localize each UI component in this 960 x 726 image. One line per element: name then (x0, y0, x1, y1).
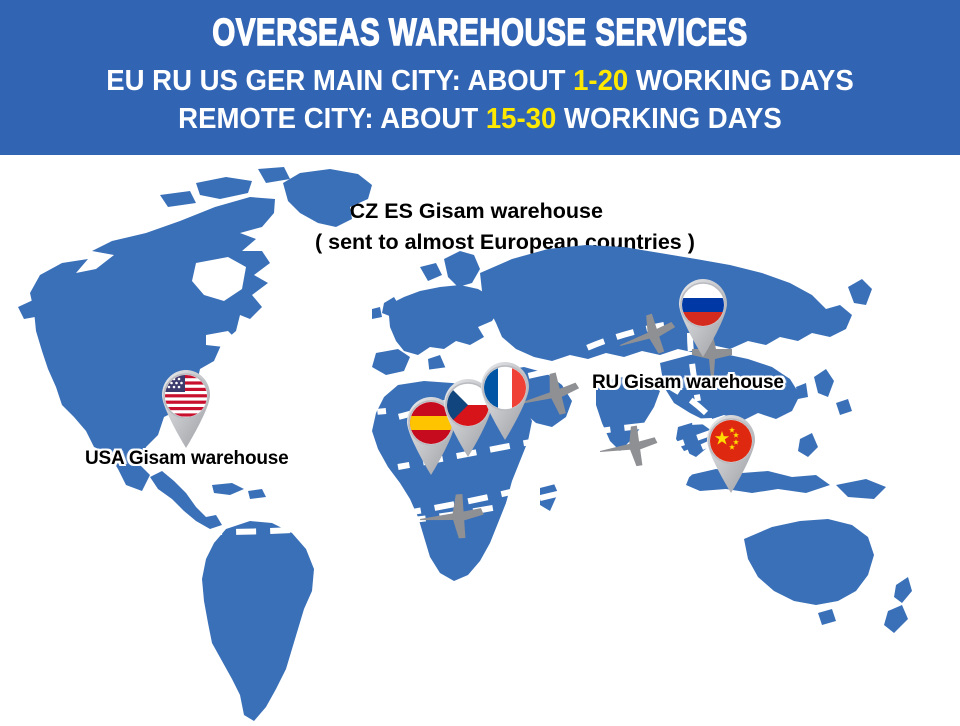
usa-pin[interactable] (155, 368, 217, 450)
france-flag (484, 367, 526, 409)
japan (814, 369, 852, 415)
remote-city-days: 15-30 (486, 103, 556, 135)
russia-flag (682, 284, 724, 326)
delivery-time-remote-city: REMOTE CITY: ABOUT 15-30 WORKING DAYS (24, 101, 936, 138)
world-map: USA Gisam warehouse RU Gisam warehouse (0, 155, 960, 726)
new-guinea (836, 479, 886, 499)
scandinavia (420, 251, 480, 287)
header-banner: OVERSEAS WAREHOUSE SERVICES EU RU US GER… (0, 0, 960, 155)
france-pin[interactable] (474, 360, 536, 442)
main-city-days: 1-20 (573, 65, 628, 97)
main-city-prefix: EU RU US GER MAIN CITY: ABOUT (106, 65, 573, 97)
tasmania (818, 609, 836, 625)
page-title: OVERSEAS WAREHOUSE SERVICES (106, 14, 855, 52)
russia-warehouse-label: RU Gisam warehouse (592, 372, 784, 394)
remote-city-suffix: WORKING DAYS (556, 103, 782, 135)
delivery-time-main-city: EU RU US GER MAIN CITY: ABOUT 1-20 WORKI… (24, 63, 936, 100)
korea (796, 383, 808, 399)
caribbean (212, 483, 266, 499)
remote-city-prefix: REMOTE CITY: ABOUT (178, 103, 486, 135)
us-flag (165, 375, 207, 417)
iberia (372, 349, 410, 375)
usa-warehouse-label: USA Gisam warehouse (85, 448, 289, 470)
main-city-suffix: WORKING DAYS (628, 65, 854, 97)
north-america (30, 197, 275, 491)
china-pin[interactable] (700, 413, 762, 495)
central-america (150, 471, 222, 529)
russia-pin[interactable] (672, 277, 734, 359)
greenland (283, 169, 372, 227)
new-zealand (884, 577, 912, 633)
australia (744, 519, 874, 605)
china-flag (710, 420, 752, 462)
russia-asia (480, 245, 852, 361)
kamchatka (848, 279, 872, 305)
south-america (202, 521, 314, 721)
philippines (798, 433, 818, 457)
europe (388, 285, 500, 355)
